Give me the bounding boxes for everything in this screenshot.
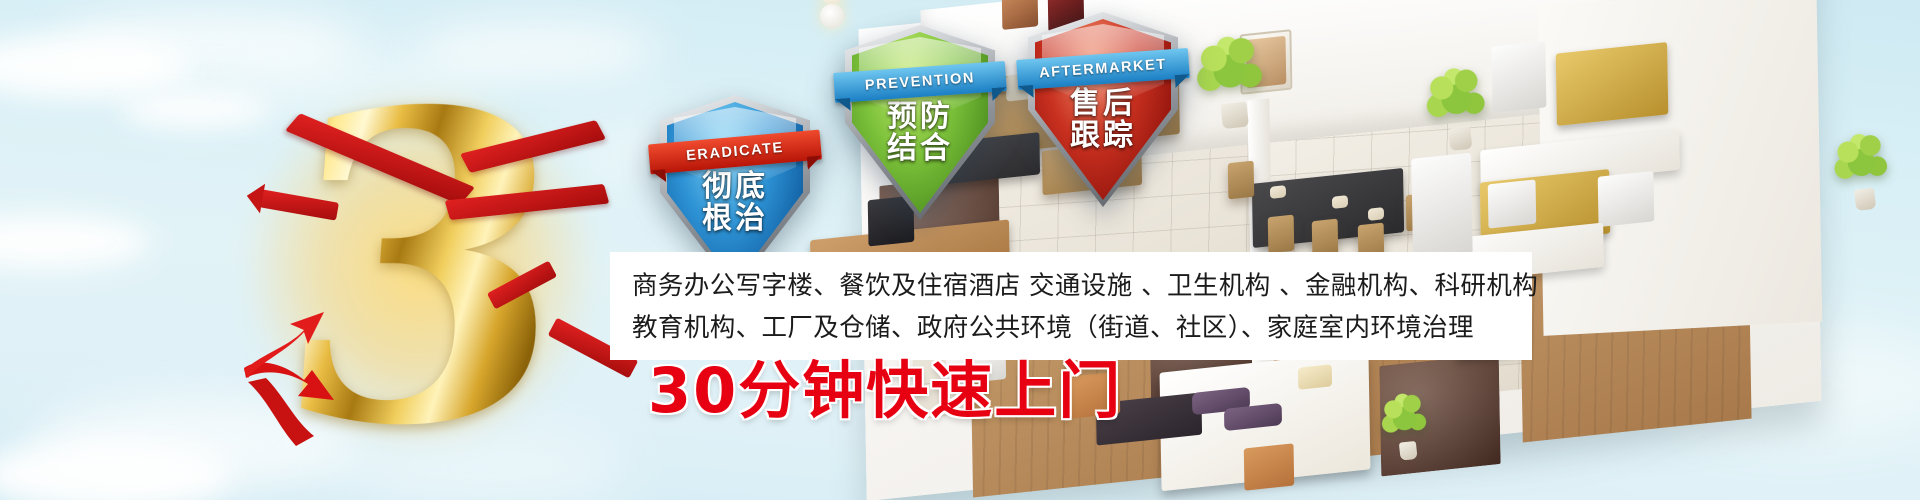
badge-aftermarket: 售后 跟踪 AFTERMARKET	[1028, 12, 1178, 207]
badge-chinese-line2: 结合	[845, 133, 995, 165]
kitchen-cabinet	[1556, 42, 1669, 126]
tableware	[1368, 207, 1384, 221]
promo-banner: 3 彻底 根治 ERADICATE 预防 结合 PREVENTION	[0, 0, 1920, 500]
refrigerator	[1411, 153, 1472, 260]
tableware	[1270, 185, 1286, 199]
badge-chinese-text: 彻底 根治	[660, 171, 810, 236]
headline-text: 30分钟快速上门	[648, 360, 1122, 422]
badge-chinese-line2: 跟踪	[1028, 120, 1178, 152]
service-scope-line-1: 商务办公写字楼、餐饮及住宿酒店 交通设施 、卫生机构 、金融机构、科研机构	[632, 265, 1510, 307]
bed-tray	[1298, 364, 1332, 390]
potted-plant-icon	[1420, 61, 1495, 153]
potted-plant-icon	[1376, 388, 1433, 463]
potted-plant-icon	[1189, 28, 1273, 131]
badge-chinese-line1: 预防	[845, 101, 995, 133]
badge-chinese-text: 售后 跟踪	[1028, 88, 1178, 153]
range-hood	[1492, 41, 1547, 113]
table-lamp	[820, 4, 844, 28]
dining-chair	[1268, 215, 1294, 254]
badge-chinese-line2: 根治	[660, 203, 810, 235]
nightstand	[1244, 443, 1294, 490]
sink	[1598, 171, 1655, 227]
cloud-icon	[0, 215, 150, 269]
potted-plant-icon	[1828, 127, 1896, 213]
dining-chair	[1228, 161, 1254, 200]
badge-chinese-text: 预防 结合	[845, 101, 995, 166]
oven	[1488, 179, 1537, 228]
tableware	[1332, 195, 1348, 209]
service-scope-panel: 商务办公写字楼、餐饮及住宿酒店 交通设施 、卫生机构 、金融机构、科研机构 教育…	[610, 252, 1532, 360]
service-scope-line-2: 教育机构、工厂及仓储、政府公共环境（街道、社区）、家庭室内环境治理	[632, 307, 1510, 349]
badge-chinese-line1: 彻底	[660, 171, 810, 203]
badge-prevention: 预防 结合 PREVENTION	[845, 25, 995, 220]
badge-chinese-line1: 售后	[1028, 88, 1178, 120]
golden-numeral-three: 3	[255, 100, 585, 440]
